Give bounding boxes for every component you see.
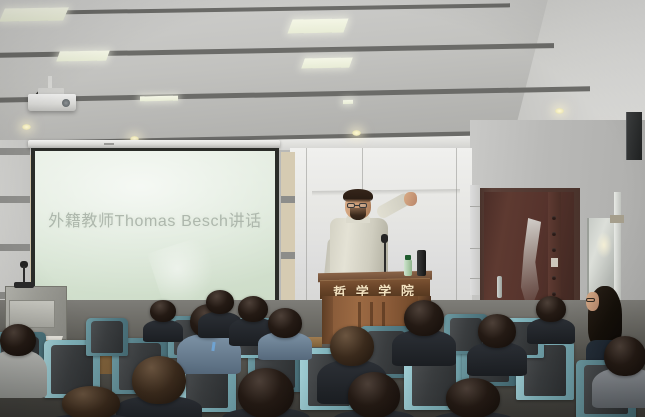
wall-seam xyxy=(456,148,457,323)
seat-cushion xyxy=(91,321,122,353)
projector-lens xyxy=(62,99,70,107)
wall-stripe xyxy=(0,244,30,251)
speaker-beard xyxy=(350,208,366,220)
attendee-head xyxy=(348,372,400,417)
door-rivet xyxy=(552,232,556,236)
ceiling-light-panel xyxy=(287,18,348,33)
attendee-head xyxy=(404,300,444,336)
attendee-head xyxy=(478,314,516,348)
podium-microphone xyxy=(381,234,388,243)
ceiling-light-panel xyxy=(0,7,69,21)
recessed-downlight xyxy=(555,108,564,114)
attendee-shoulders xyxy=(0,350,47,398)
podium-microphone-stem xyxy=(384,240,386,274)
screen-housing-badge xyxy=(104,143,114,145)
wall-stripe xyxy=(0,148,30,155)
attendee-head xyxy=(206,290,234,314)
projection-screen-housing[interactable] xyxy=(28,140,280,148)
door-rivet xyxy=(552,248,556,252)
water-bottle xyxy=(404,260,412,276)
speaker-hair xyxy=(343,189,373,203)
door-lock-plate xyxy=(551,258,558,267)
ceiling-slat xyxy=(40,3,510,14)
wall-stripe xyxy=(281,196,295,203)
attendee-head xyxy=(62,386,120,417)
door-rivet xyxy=(552,216,556,220)
projection-screen-surface: 外籍教师Thomas Besch讲话 xyxy=(35,151,275,312)
ceiling-light-panel xyxy=(140,96,178,102)
projection-screen-title: 外籍教师Thomas Besch讲话 xyxy=(35,207,275,231)
desk-microphone-stem xyxy=(23,266,25,283)
podium-flute xyxy=(358,302,361,330)
wall-seam xyxy=(362,148,363,192)
attendee-head xyxy=(604,336,645,376)
ceiling-light-panel xyxy=(301,58,353,69)
wall-board-glare xyxy=(596,232,612,258)
projection-screen-frame: 外籍教师Thomas Besch讲话 xyxy=(31,148,279,315)
attendee-head xyxy=(446,378,500,417)
attendee-head xyxy=(536,296,566,322)
desk-microphone-base xyxy=(14,282,34,288)
glasses-icon xyxy=(586,298,595,302)
recessed-downlight xyxy=(352,130,361,136)
attendee-shoulders xyxy=(143,320,183,342)
attendee-head xyxy=(0,324,36,356)
wall-post-clip xyxy=(610,215,624,223)
attendee-head xyxy=(238,368,294,417)
speaker-hand xyxy=(404,192,417,206)
attendee-head xyxy=(268,308,302,338)
glasses-bridge xyxy=(355,205,359,206)
ceiling-slat xyxy=(0,86,590,103)
ceiling-light-panel xyxy=(56,51,110,62)
door-handle[interactable] xyxy=(497,276,502,298)
ceiling-light-panel xyxy=(343,100,353,104)
attendee-head xyxy=(330,326,374,366)
auditorium-seat[interactable] xyxy=(86,318,128,356)
speaker-torso xyxy=(330,218,388,280)
dark-object-on-podium xyxy=(417,250,426,276)
attendee-head xyxy=(150,300,176,322)
door-rivet xyxy=(552,276,556,280)
wall-beige-strip xyxy=(281,152,295,320)
wall-stripe xyxy=(0,196,30,203)
attendee-head xyxy=(238,296,268,322)
recessed-downlight xyxy=(22,124,31,130)
wall-stripe xyxy=(281,252,295,259)
attendee-head xyxy=(132,356,186,404)
lecture-hall-photo: 外籍教师Thomas Besch讲话 哲 学 学 院 xyxy=(0,0,645,417)
wall-seam xyxy=(306,148,307,323)
wall-mounted-speaker xyxy=(626,112,642,160)
